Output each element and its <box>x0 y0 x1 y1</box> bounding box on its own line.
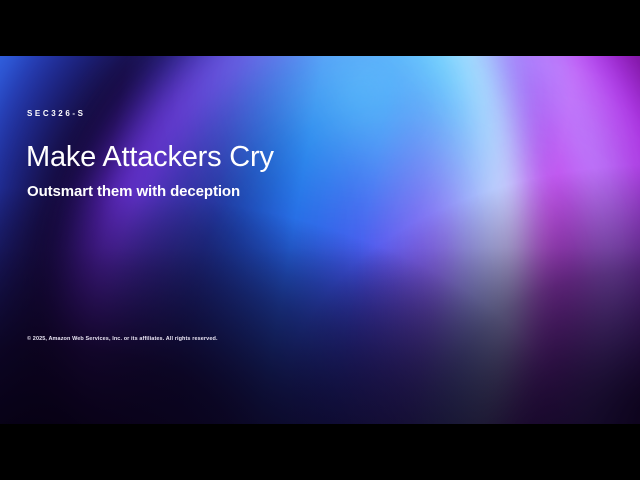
session-code: SEC326-S <box>27 110 86 118</box>
slide-content: SEC326-S Make Attackers Cry Outsmart the… <box>0 0 640 480</box>
copyright-notice: © 2025, Amazon Web Services, Inc. or its… <box>27 337 218 343</box>
page-title: Make Attackers Cry <box>26 142 274 174</box>
page-subtitle: Outsmart them with deception <box>27 183 240 201</box>
presentation-slide: SEC326-S Make Attackers Cry Outsmart the… <box>0 0 640 480</box>
letterbox-bar-top <box>0 0 640 56</box>
letterbox-bar-bottom <box>0 424 640 480</box>
